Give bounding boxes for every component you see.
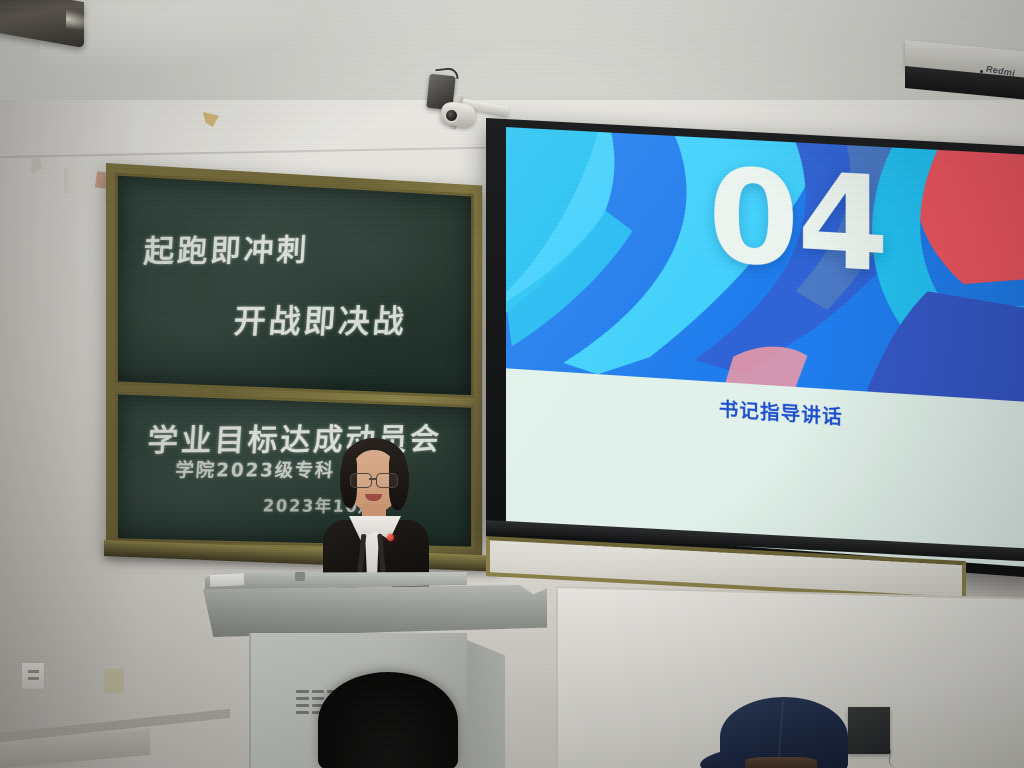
lectern-side-panel <box>467 640 505 768</box>
screen-surface: 04 书记指导讲话 <box>506 127 1024 567</box>
audience-member-neck <box>745 757 817 768</box>
wall-patch <box>104 669 124 693</box>
classroom-photo: Redmi 起跑即冲刺 开战即决战 学业目标达成动员会 学院2023级专科 20… <box>0 0 1024 768</box>
lectern-papers <box>210 573 245 587</box>
blackboard-upper-panel: 起跑即冲刺 开战即决战 <box>115 173 474 399</box>
wall-mark <box>30 166 37 173</box>
camera-lens-icon <box>444 108 459 123</box>
slide-artwork: 04 <box>506 127 1024 402</box>
chalk-dust <box>118 176 471 395</box>
wall-switch-plate <box>21 662 45 690</box>
wall-box-cable <box>888 749 904 768</box>
wall-mounted-box <box>848 707 890 754</box>
blackboard-line-2: 开战即决战 <box>232 295 409 342</box>
presentation-slide: 04 书记指导讲话 <box>506 127 1024 567</box>
lapel-pin-icon <box>387 534 394 541</box>
audience-member-dark-hair <box>318 672 458 768</box>
glasses-bridge <box>369 478 377 480</box>
projection-screen: 04 书记指导讲话 <box>486 118 1024 578</box>
blackboard-line-1: 起跑即冲刺 <box>143 225 311 271</box>
wall-mark <box>64 168 68 194</box>
lectern-knob <box>295 572 305 581</box>
